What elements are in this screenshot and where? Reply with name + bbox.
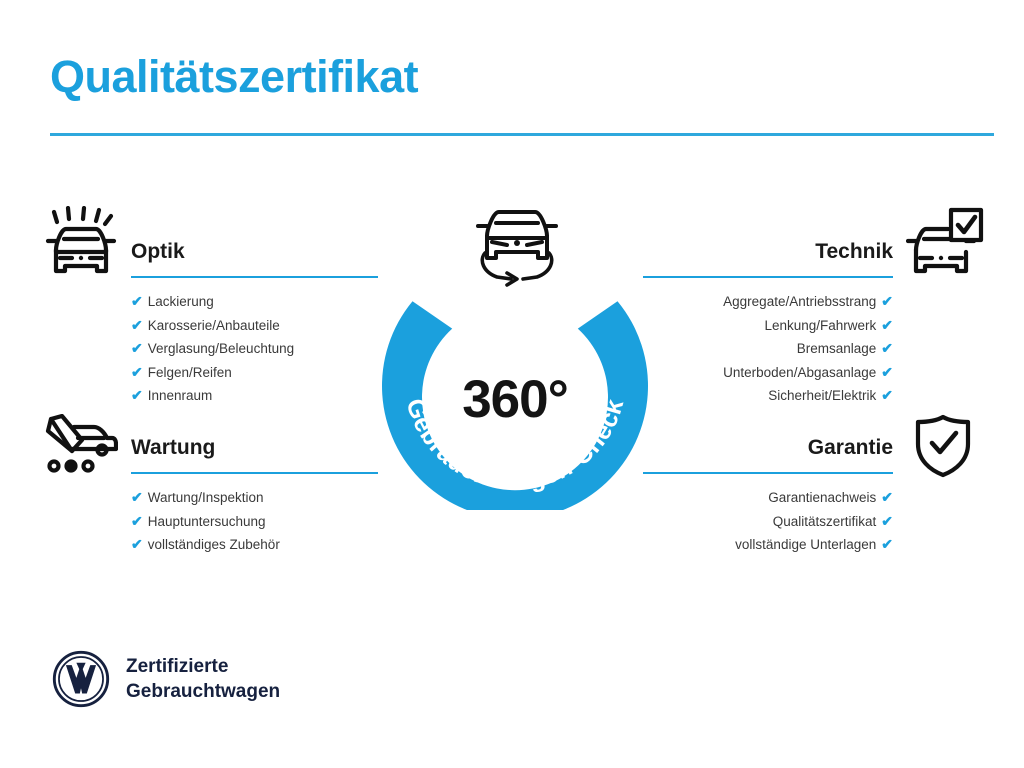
vw-logo (52, 650, 110, 708)
section-header: Garantie (643, 434, 893, 474)
section-optik: Optik ✔Lackierung ✔Karosserie/Anbauteile… (131, 238, 378, 408)
section-divider (643, 472, 893, 474)
title-divider (50, 133, 994, 136)
footer-line1: Zertifizierte (126, 656, 228, 677)
list-item-label: Sicherheit/Elektrik (768, 388, 876, 403)
checklist-wartung: ✔Wartung/Inspektion ✔Hauptuntersuchung ✔… (131, 486, 378, 557)
checklist-technik: Aggregate/Antriebsstrang✔ Lenkung/Fahrwe… (643, 290, 893, 408)
car-rotate-360-icon (467, 190, 567, 290)
check-icon: ✔ (131, 364, 143, 380)
list-item-label: Garantienachweis (768, 490, 876, 505)
check-icon: ✔ (131, 536, 143, 552)
footer-vw-certified: ZertifizierteGebrauchtwagen (52, 650, 280, 708)
list-item-label: Unterboden/Abgasanlage (723, 365, 876, 380)
section-divider (131, 276, 378, 278)
check-icon: ✔ (881, 536, 893, 552)
list-item: Garantienachweis✔ (643, 486, 893, 510)
list-item: ✔Felgen/Reifen (131, 361, 378, 385)
list-item-label: Felgen/Reifen (148, 365, 232, 380)
section-divider (643, 276, 893, 278)
footer-line2: Gebrauchtwagen (126, 681, 280, 702)
section-divider (131, 472, 378, 474)
car-service-pencil-icon (42, 414, 118, 481)
section-wartung: Wartung ✔Wartung/Inspektion ✔Hauptunters… (131, 434, 378, 557)
list-item: Lenkung/Fahrwerk✔ (643, 314, 893, 338)
list-item: vollständige Unterlagen✔ (643, 533, 893, 557)
page-title: Qualitätszertifikat (50, 52, 418, 102)
check-icon: ✔ (881, 317, 893, 333)
list-item: Bremsanlage✔ (643, 337, 893, 361)
footer-text: ZertifizierteGebrauchtwagen (126, 654, 280, 704)
badge-360-gebrauchtwagen-check: Gebrauchtwagen-Check 360° (372, 190, 658, 510)
section-garantie: Garantie Garantienachweis✔ Qualitätszert… (643, 434, 893, 557)
shield-check-icon (912, 414, 974, 483)
badge-value: 360° (372, 373, 658, 426)
list-item-label: vollständige Unterlagen (735, 537, 876, 552)
list-item-label: vollständiges Zubehör (148, 537, 280, 552)
list-item: Unterboden/Abgasanlage✔ (643, 361, 893, 385)
list-item-label: Bremsanlage (797, 341, 877, 356)
check-icon: ✔ (881, 340, 893, 356)
section-title-optik: Optik (131, 238, 378, 266)
check-icon: ✔ (131, 340, 143, 356)
list-item-label: Wartung/Inspektion (148, 490, 264, 505)
list-item: Qualitätszertifikat✔ (643, 510, 893, 534)
section-title-technik: Technik (643, 238, 893, 266)
section-header: Wartung (131, 434, 378, 474)
section-technik: Technik Aggregate/Antriebsstrang✔ Lenkun… (643, 238, 893, 408)
list-item: ✔Lackierung (131, 290, 378, 314)
checklist-optik: ✔Lackierung ✔Karosserie/Anbauteile ✔Verg… (131, 290, 378, 408)
list-item-label: Verglasung/Beleuchtung (148, 341, 294, 356)
section-header: Optik (131, 238, 378, 278)
list-item: ✔Hauptuntersuchung (131, 510, 378, 534)
list-item: ✔Karosserie/Anbauteile (131, 314, 378, 338)
check-icon: ✔ (131, 513, 143, 529)
section-title-garantie: Garantie (643, 434, 893, 462)
list-item-label: Lenkung/Fahrwerk (764, 318, 876, 333)
list-item: ✔Wartung/Inspektion (131, 486, 378, 510)
check-icon: ✔ (131, 317, 143, 333)
check-icon: ✔ (881, 293, 893, 309)
list-item-label: Lackierung (148, 294, 214, 309)
check-icon: ✔ (881, 364, 893, 380)
car-shine-icon (44, 206, 118, 281)
section-header: Technik (643, 238, 893, 278)
check-icon: ✔ (881, 513, 893, 529)
check-icon: ✔ (131, 489, 143, 505)
list-item-label: Karosserie/Anbauteile (148, 318, 280, 333)
list-item: ✔vollständiges Zubehör (131, 533, 378, 557)
checklist-garantie: Garantienachweis✔ Qualitätszertifikat✔ v… (643, 486, 893, 557)
section-title-wartung: Wartung (131, 434, 378, 462)
list-item-label: Hauptuntersuchung (148, 514, 266, 529)
list-item: Sicherheit/Elektrik✔ (643, 384, 893, 408)
list-item-label: Qualitätszertifikat (773, 514, 877, 529)
check-icon: ✔ (881, 489, 893, 505)
check-icon: ✔ (881, 387, 893, 403)
list-item: ✔Innenraum (131, 384, 378, 408)
check-icon: ✔ (131, 293, 143, 309)
certificate-page: Qualitätszertifikat (0, 0, 1024, 768)
list-item: Aggregate/Antriebsstrang✔ (643, 290, 893, 314)
check-icon: ✔ (131, 387, 143, 403)
list-item: ✔Verglasung/Beleuchtung (131, 337, 378, 361)
list-item-label: Innenraum (148, 388, 213, 403)
car-checkbox-icon (906, 206, 984, 281)
list-item-label: Aggregate/Antriebsstrang (723, 294, 876, 309)
